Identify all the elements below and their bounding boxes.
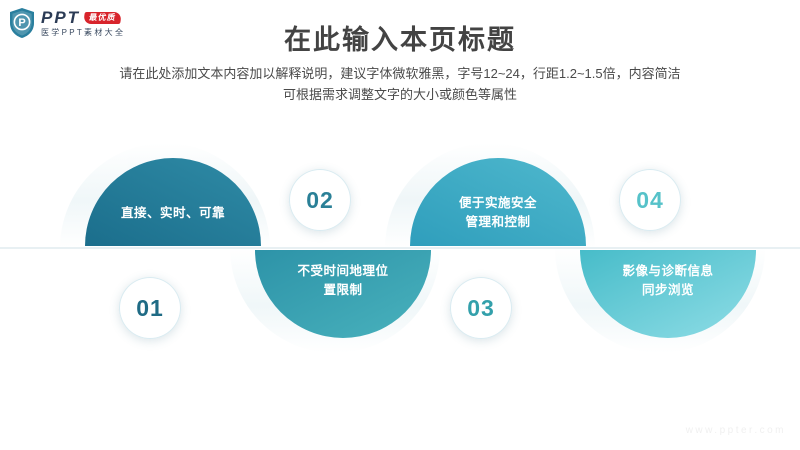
number-badge-01[interactable]: 01 [119, 277, 181, 339]
shape-label-1: 直接、实时、可靠 [93, 204, 253, 223]
page-subtitle: 请在此处添加文本内容加以解释说明，建议字体微软雅黑，字号12~24，行距1.2~… [0, 63, 800, 105]
shape-label-2: 不受时间地理位 置限制 [263, 262, 423, 300]
number-badge-02[interactable]: 02 [289, 169, 351, 231]
wave-shapes [0, 140, 800, 370]
number-badge-03[interactable]: 03 [450, 277, 512, 339]
shape-label-4: 影像与诊断信息 同步浏览 [588, 262, 748, 300]
page-title: 在此输入本页标题 [0, 18, 800, 57]
number-badge-01-label: 01 [136, 295, 164, 322]
number-badge-04-label: 04 [636, 187, 664, 214]
slide-canvas: P PPT 最优质 医学PPT素材大全 在此输入本页标题 请在此处添加文本内容加… [0, 0, 800, 450]
shape-label-3: 便于实施安全 管理和控制 [418, 194, 578, 232]
number-badge-04[interactable]: 04 [619, 169, 681, 231]
subtitle-line-1: 请在此处添加文本内容加以解释说明，建议字体微软雅黑，字号12~24，行距1.2~… [0, 63, 800, 84]
number-badge-03-label: 03 [467, 295, 495, 322]
site-watermark: www.ppter.com [686, 425, 786, 436]
subtitle-line-2: 可根据需求调整文字的大小或颜色等属性 [0, 84, 800, 105]
wave-infographic: 直接、实时、可靠 不受时间地理位 置限制 便于实施安全 管理和控制 影像与诊断信… [0, 140, 800, 370]
number-badge-02-label: 02 [306, 187, 334, 214]
